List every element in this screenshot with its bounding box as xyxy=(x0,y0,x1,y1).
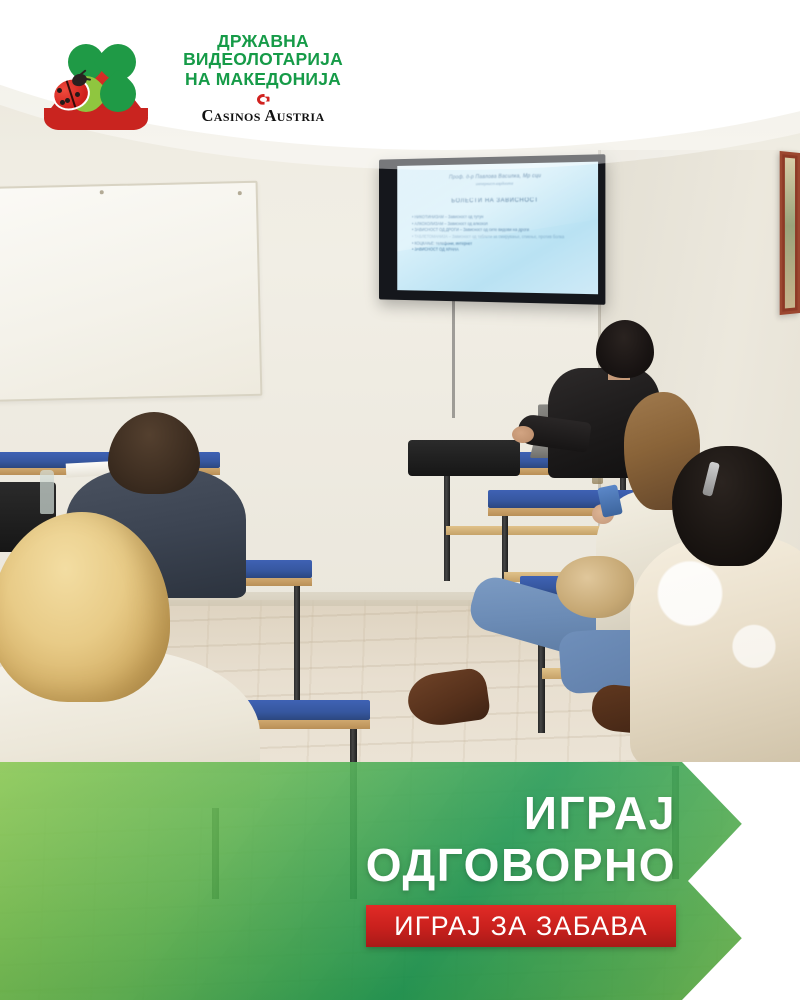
slide-bullet: • ЗАВИСНОСТ ОД ХРАНА xyxy=(412,247,589,255)
whiteboard-screw xyxy=(100,190,104,194)
status-badge: ИГРАЈ ЗА ЗАБАВА xyxy=(366,905,676,947)
banner-headline: ИГРАЈ ОДГОВОРНО xyxy=(0,790,676,888)
framed-picture-art xyxy=(785,158,795,309)
logo-line-1: ДРЖАВНА ВИДЕОЛОТАРИЈА xyxy=(154,32,372,68)
tv-cable xyxy=(452,300,455,418)
tv-screen: Проф. д-р Павлова Василка, Мр сци интерн… xyxy=(397,162,598,295)
whiteboard-screw xyxy=(238,191,242,195)
casinos-austria-label: Casinos Austria xyxy=(201,106,324,125)
logo-wordmark: ДРЖАВНА ВИДЕОЛОТАРИЈА НА МАКЕДОНИЈА Casi… xyxy=(154,32,372,126)
casinos-austria-block: Casinos Austria xyxy=(154,94,372,126)
framed-picture xyxy=(780,151,800,315)
student-dark-hair xyxy=(672,446,782,566)
casinos-austria-c-icon xyxy=(257,94,270,105)
banner-line-2: ОДГОВОРНО xyxy=(0,842,676,888)
water-bottle-left xyxy=(40,470,54,514)
whiteboard xyxy=(0,181,262,403)
logo-line-2: НА МАКЕДОНИЈА xyxy=(154,70,372,88)
ladybug-spot xyxy=(57,88,62,93)
brand-logo: ДРЖАВНА ВИДЕОЛОТАРИЈА НА МАКЕДОНИЈА Casi… xyxy=(42,26,372,136)
banner-line-1: ИГРАЈ xyxy=(0,790,676,836)
ladybug-spot xyxy=(65,98,70,103)
ladybug-spot xyxy=(75,92,80,97)
ladybug-spot xyxy=(60,100,65,105)
student-fur-coat xyxy=(630,536,800,766)
fur-collar xyxy=(556,556,634,618)
logo-mark xyxy=(42,34,150,130)
presenter-hand xyxy=(512,426,534,443)
wall-mounted-tv: Проф. д-р Павлова Василка, Мр сци интерн… xyxy=(379,154,605,305)
badge-label: ИГРАЈ ЗА ЗАБАВА xyxy=(394,913,648,940)
ladybug-icon xyxy=(52,74,92,110)
poster-canvas: Проф. д-р Павлова Василка, Мр сци интерн… xyxy=(0,0,800,1000)
chair-back-presenter xyxy=(408,440,520,476)
presenter-hair xyxy=(596,320,654,378)
clover-leaf xyxy=(93,69,144,120)
